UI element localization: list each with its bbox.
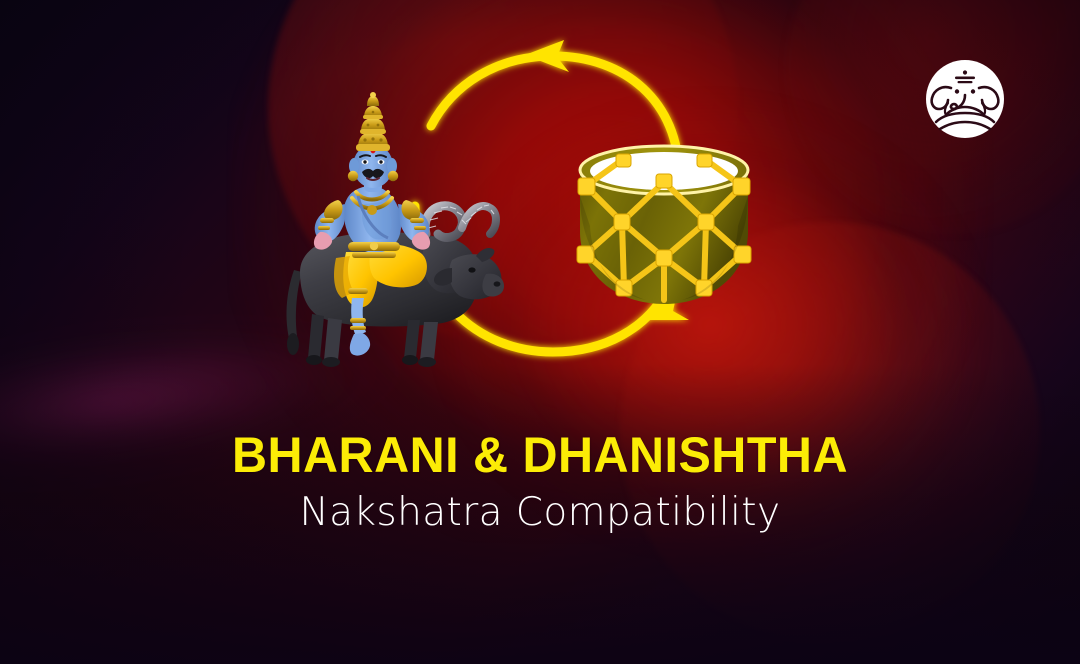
banner-image: BHARANI & DHANISHTHA Nakshatra Compatibi… (0, 0, 1080, 664)
page-subtitle: Nakshatra Compatibility (0, 492, 1080, 535)
dholak-drum-illustration (566, 136, 762, 318)
ganesha-logo[interactable] (924, 58, 1006, 140)
yama-on-buffalo-illustration (276, 92, 508, 372)
banner-text-block: BHARANI & DHANISHTHA Nakshatra Compatibi… (0, 428, 1080, 535)
page-title: BHARANI & DHANISHTHA (16, 428, 1064, 482)
